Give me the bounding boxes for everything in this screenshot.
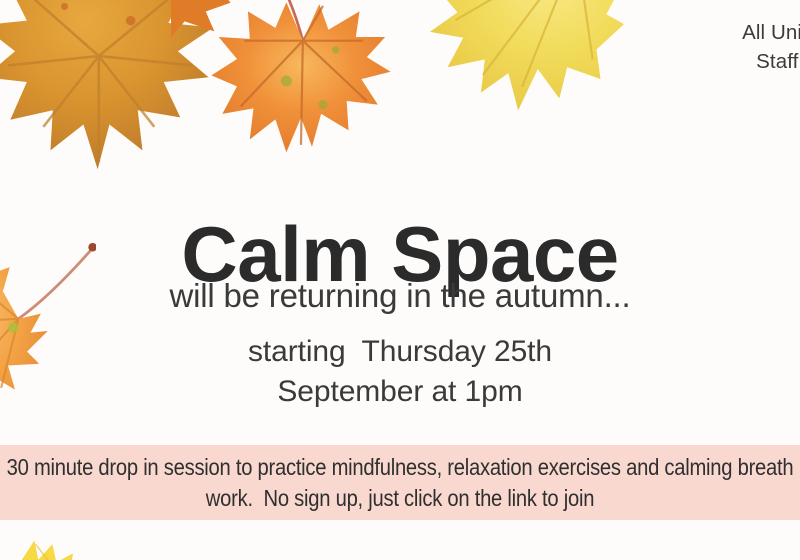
maple-leaf-top-left-icon [0, 0, 234, 174]
calm-space-poster: All University Staff welcome Calm Space … [0, 0, 800, 560]
description-banner: 30 minute drop in session to practice mi… [0, 445, 800, 520]
maple-leaf-bottom-left-icon [14, 534, 96, 560]
schedule-line-1: starting Thursday 25th [0, 332, 800, 372]
audience-note-line-1: All University [672, 18, 800, 47]
audience-note-line-2: Staff welcome [672, 47, 800, 76]
description-line-1: 30 minute drop in session to practice mi… [0, 452, 800, 483]
poster-subtitle: will be returning in the autumn... [0, 277, 800, 315]
maple-leaf-fragment-left-icon [170, 0, 234, 40]
description-line-2: work. No sign up, just click on the link… [0, 483, 800, 514]
maple-leaf-top-center-icon [205, 0, 397, 176]
description-banner-text: 30 minute drop in session to practice mi… [0, 452, 800, 514]
schedule-details: starting Thursday 25th September at 1pm [0, 332, 800, 412]
maple-leaf-top-right-icon [420, 0, 632, 126]
schedule-line-2: September at 1pm [0, 372, 800, 412]
audience-note: All University Staff welcome [672, 18, 800, 76]
